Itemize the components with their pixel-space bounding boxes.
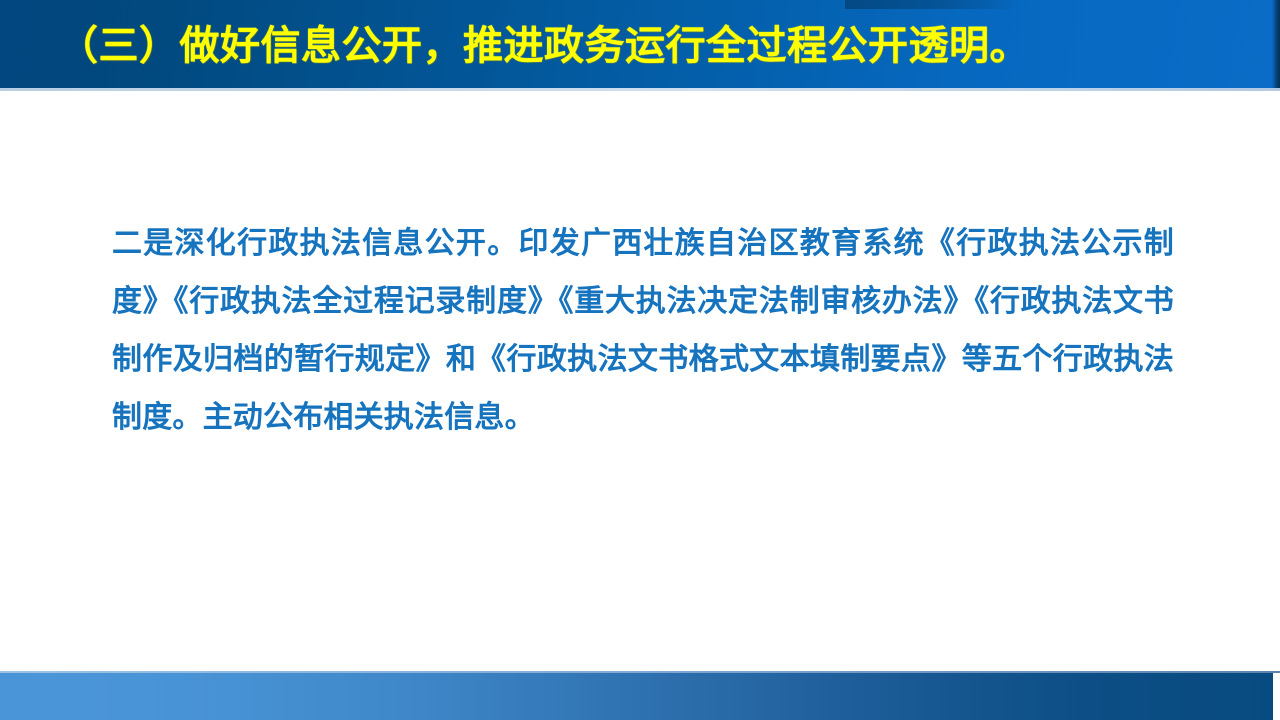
header-accent-strip [845,0,1013,9]
slide-footer-band [0,673,1280,720]
footer-right-edge-gap [1273,673,1280,720]
presentation-slide: （三）做好信息公开，推进政务运行全过程公开透明。 二是深化行政执法信息公开。印发… [0,0,1280,720]
body-paragraph: 二是深化行政执法信息公开。印发广西壮族自治区教育系统《行政执法公示制度》《行政执… [112,215,1174,447]
slide-title: （三）做好信息公开，推进政务运行全过程公开透明。 [58,16,1238,76]
slide-body-area: 二是深化行政执法信息公开。印发广西壮族自治区教育系统《行政执法公示制度》《行政执… [0,91,1280,673]
header-right-edge-shade [1272,0,1280,88]
